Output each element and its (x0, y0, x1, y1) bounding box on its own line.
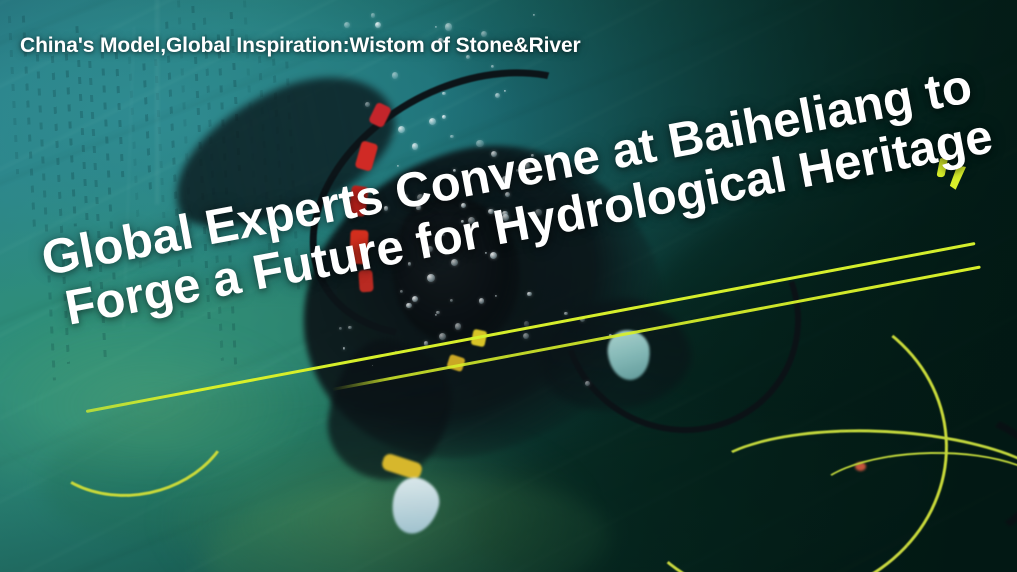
air-bubbles (0, 0, 1017, 572)
air-bubble (339, 327, 343, 331)
air-bubble (372, 365, 374, 367)
air-bubble (445, 23, 453, 31)
air-bubble (533, 14, 535, 16)
air-bubble (502, 176, 509, 183)
air-bubble (400, 290, 403, 293)
air-bubble (444, 250, 449, 255)
air-bubble (439, 249, 441, 251)
air-bubble (436, 311, 440, 315)
air-bubble (384, 206, 389, 211)
air-bubble (424, 233, 428, 237)
air-bubble (479, 298, 484, 303)
air-bubble (395, 239, 398, 242)
air-bubble (453, 169, 456, 172)
air-bubble (537, 175, 541, 179)
air-bubble (531, 154, 534, 157)
air-bubble (505, 192, 510, 197)
air-bubble (397, 165, 399, 167)
air-bubble (392, 72, 398, 78)
air-bubble (365, 102, 370, 107)
air-bubble (527, 292, 532, 297)
air-bubble (488, 209, 493, 214)
air-bubble (344, 22, 351, 29)
air-bubble (408, 262, 411, 265)
air-bubble (455, 323, 462, 330)
air-bubble (523, 162, 530, 169)
air-bubble (406, 303, 412, 309)
air-bubble (395, 259, 398, 262)
air-bubble (535, 209, 542, 216)
air-bubble (485, 252, 487, 254)
air-bubble (490, 252, 497, 259)
air-bubble (476, 140, 484, 148)
air-bubble (504, 90, 506, 92)
air-bubble (495, 295, 497, 297)
accent-tick-icon (949, 166, 966, 191)
air-bubble (435, 26, 437, 28)
accent-tick-icon (936, 158, 948, 177)
air-bubble (427, 274, 435, 282)
air-bubble (442, 115, 447, 120)
air-bubble (398, 126, 405, 133)
air-bubble (461, 220, 464, 223)
air-bubble (450, 299, 453, 302)
air-bubble (585, 381, 590, 386)
program-title: China's Model,Global Inspiration:Wistom … (20, 34, 581, 58)
air-bubble (564, 312, 568, 316)
air-bubble (495, 93, 500, 98)
air-bubble (442, 92, 446, 96)
air-bubble (491, 151, 497, 157)
air-bubble (502, 211, 508, 217)
air-bubble (401, 194, 409, 202)
air-bubble (435, 314, 438, 317)
air-bubble (343, 347, 346, 350)
air-bubble (348, 326, 351, 329)
air-bubble (375, 22, 381, 28)
air-bubble (523, 333, 529, 339)
air-bubble (441, 233, 445, 237)
air-bubble (528, 177, 531, 180)
air-bubble (412, 296, 418, 302)
air-bubble (417, 194, 424, 201)
air-bubble (491, 65, 495, 69)
air-bubble (461, 203, 466, 208)
air-bubble (468, 217, 475, 224)
video-frame: China's Model,Global Inspiration:Wistom … (0, 0, 1017, 572)
air-bubble (516, 169, 519, 172)
air-bubble (483, 175, 486, 178)
air-bubble (439, 333, 446, 340)
air-bubble (427, 246, 433, 252)
air-bubble (418, 205, 421, 208)
accent-tick-mark-icon (933, 153, 981, 203)
air-bubble (429, 118, 436, 125)
air-bubble (451, 259, 458, 266)
air-bubble (450, 135, 453, 138)
air-bubble (412, 143, 419, 150)
air-bubble (371, 13, 376, 18)
